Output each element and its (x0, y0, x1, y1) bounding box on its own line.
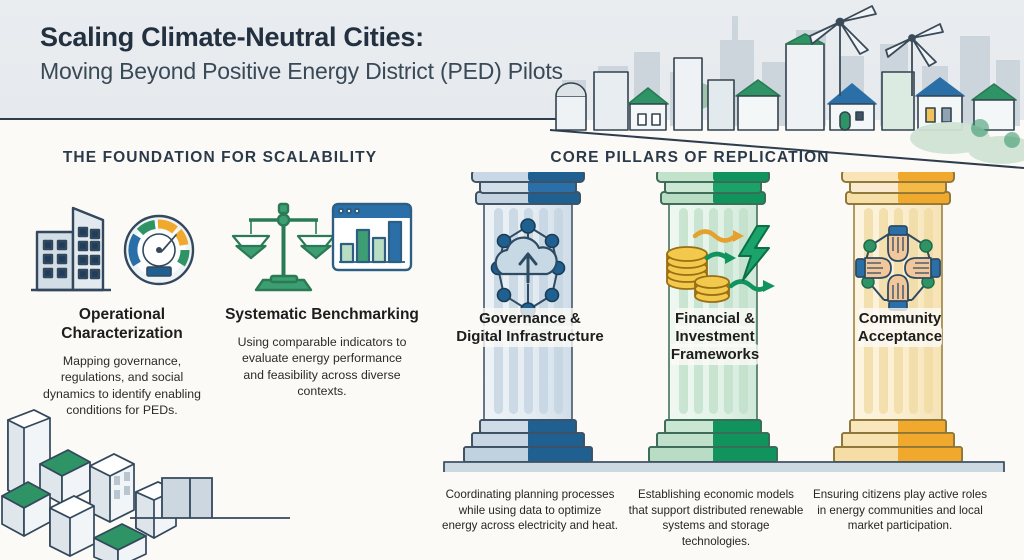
pillar-caption-financial: Establishing economic models that suppor… (628, 487, 804, 549)
section-heading-foundation: THE FOUNDATION FOR SCALABILITY (0, 149, 440, 167)
pillar-label-text: Financial & Investment Frameworks (671, 308, 759, 365)
foundation-card-operational: Operational Characterization Mapping gov… (22, 190, 222, 418)
pillar-caption-community: Ensuring citizens play active roles in e… (812, 487, 988, 534)
pillar-label-governance: Governance & Digital Infrastructure (455, 310, 605, 346)
isometric-city-blocks-icon (0, 392, 290, 560)
page-subtitle: Moving Beyond Positive Energy District (… (40, 58, 563, 85)
pillar-label-text: Community Acceptance (858, 308, 942, 347)
foundation-body: Using comparable indicators to evaluate … (222, 334, 422, 399)
pillar-label-financial: Financial & Investment Frameworks (640, 310, 790, 364)
infographic-canvas: Scaling Climate-Neutral Cities: Moving B… (0, 0, 1024, 560)
scales-barchart-icon (222, 190, 422, 302)
pillar-base-platform (432, 462, 1016, 472)
foundation-title: Systematic Benchmarking (222, 306, 422, 325)
page-title: Scaling Climate-Neutral Cities: (40, 22, 563, 53)
pillar-label-text: Governance & Digital Infrastructure (456, 308, 604, 347)
foundation-title: Operational Characterization (22, 306, 222, 344)
pillar-label-community: Community Acceptance (825, 310, 975, 346)
foundation-card-benchmarking: Systematic Benchmarking Using comparable… (222, 190, 422, 399)
building-gauge-icon (22, 190, 222, 302)
section-heading-pillars: CORE PILLARS OF REPLICATION (440, 149, 940, 167)
title-block: Scaling Climate-Neutral Cities: Moving B… (40, 22, 563, 85)
pillar-caption-governance: Coordinating planning processes while us… (442, 487, 618, 534)
